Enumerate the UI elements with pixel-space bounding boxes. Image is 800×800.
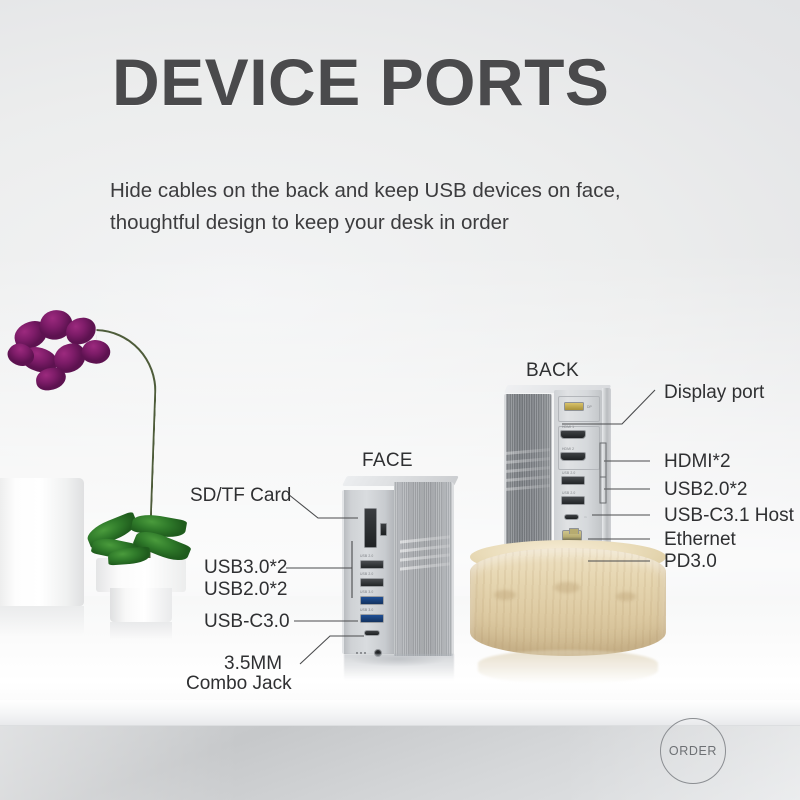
callout-back-usb2: USB2.0*2 bbox=[664, 478, 747, 501]
tall-vase bbox=[0, 478, 84, 606]
face-usb3-marking-2: USB 3.0 bbox=[360, 608, 386, 613]
face-view-heading: FACE bbox=[362, 450, 413, 472]
face-usb2-port-2 bbox=[360, 578, 384, 587]
face-dock-reflection bbox=[344, 654, 454, 680]
usb-c-host-icon: ⎓ bbox=[584, 515, 587, 519]
back-usb2-port-2 bbox=[561, 496, 585, 505]
dock-face-view: USB 2.0 USB 2.0 USB 3.0 USB 3.0 bbox=[338, 478, 456, 660]
face-usb1-marking: USB 2.0 bbox=[360, 554, 386, 559]
back-usb1-marking: USB 2.0 bbox=[562, 471, 575, 475]
hdmi-port-2 bbox=[560, 452, 586, 461]
usb-c-host-port bbox=[564, 514, 579, 520]
face-dock-body: USB 2.0 USB 2.0 USB 3.0 USB 3.0 bbox=[338, 486, 456, 654]
face-usb2-port-1 bbox=[360, 560, 384, 569]
callout-combo-jack: Combo Jack bbox=[186, 672, 292, 695]
face-usb3-port-1 bbox=[360, 596, 384, 605]
subtitle-line-2: thoughtful design to keep your desk in o… bbox=[110, 207, 710, 239]
back-usb2-port-1 bbox=[561, 476, 585, 485]
hdmi2-marking: HDMI 2 bbox=[562, 447, 574, 451]
face-usb2-marking: USB 2.0 bbox=[360, 572, 386, 577]
back-usb2-marking: USB 2.0 bbox=[562, 491, 575, 495]
callout-hdmi: HDMI*2 bbox=[664, 450, 731, 473]
face-usb3-marking-1: USB 3.0 bbox=[360, 590, 386, 595]
callout-display-port: Display port bbox=[664, 381, 764, 404]
sd-card-slot bbox=[364, 508, 377, 548]
wood-base-reflection bbox=[478, 650, 658, 684]
hdmi-port-1 bbox=[560, 430, 586, 439]
face-dock-front-panel: USB 2.0 USB 2.0 USB 3.0 USB 3.0 bbox=[342, 490, 394, 654]
orchid-pot-base bbox=[110, 588, 172, 622]
hdmi1-marking: HDMI 1 bbox=[562, 425, 574, 429]
subtitle-line-1: Hide cables on the back and keep USB dev… bbox=[110, 175, 710, 207]
callout-pd30: PD3.0 bbox=[664, 550, 717, 573]
displayport-port bbox=[564, 402, 584, 411]
dp-marking: DP bbox=[587, 405, 592, 409]
product-scene: DEVICE PORTS Hide cables on the back and… bbox=[0, 0, 800, 800]
face-usb3-port-2 bbox=[360, 614, 384, 623]
back-dock-vent-bands bbox=[506, 450, 550, 494]
order-watermark: ORDER bbox=[660, 718, 726, 784]
back-view-heading: BACK bbox=[526, 360, 579, 382]
callout-usb3: USB3.0*2 bbox=[204, 556, 287, 579]
callout-ethernet: Ethernet bbox=[664, 528, 736, 551]
page-title: DEVICE PORTS bbox=[112, 44, 609, 120]
face-usb-c-port bbox=[364, 630, 380, 636]
wood-base bbox=[470, 548, 666, 656]
orchid-pot-reflection bbox=[110, 622, 172, 640]
callout-usb2: USB2.0*2 bbox=[204, 578, 287, 601]
tall-vase-reflection bbox=[0, 606, 84, 636]
tf-card-slot bbox=[380, 523, 387, 536]
callout-usb-c31-host: USB-C3.1 Host bbox=[664, 504, 794, 527]
callout-sd-tf-card: SD/TF Card bbox=[190, 484, 291, 507]
page-subtitle: Hide cables on the back and keep USB dev… bbox=[110, 175, 710, 239]
callout-usb-c30: USB-C3.0 bbox=[204, 610, 290, 633]
face-dock-vent-bands bbox=[400, 538, 450, 578]
